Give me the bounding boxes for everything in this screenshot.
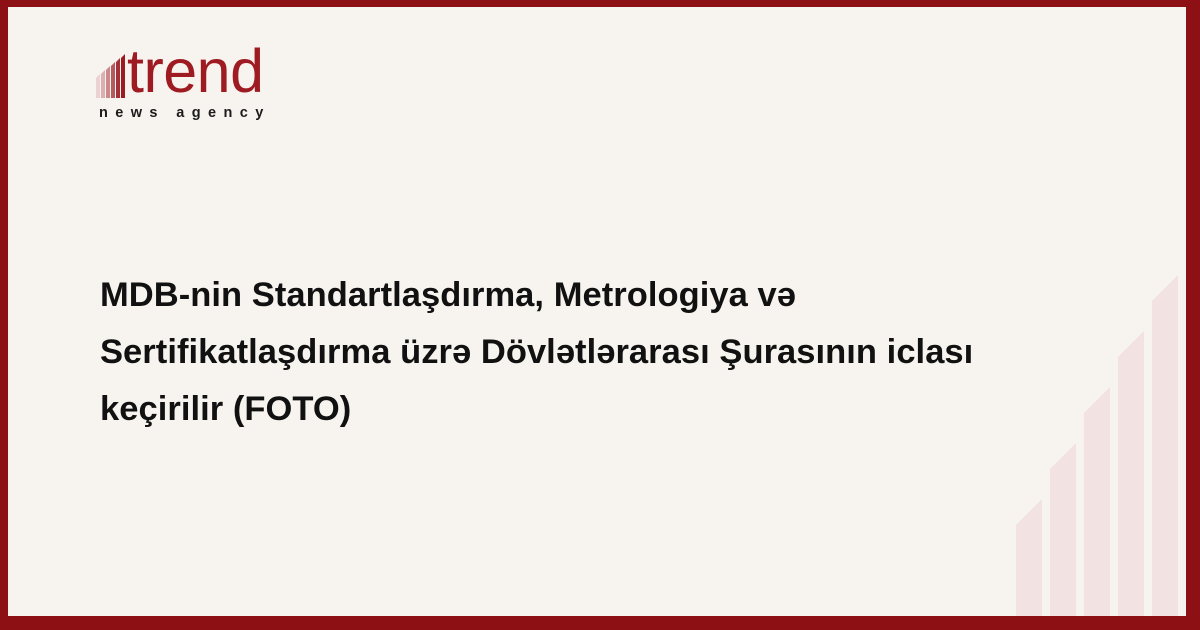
card-border-bottom (0, 616, 1200, 630)
trend-news-agency-logo[interactable]: trend news agency (96, 40, 271, 121)
headline-title: MDB-nin Standartlaşdırma, Metrologiya və… (100, 267, 1060, 438)
logo-wordmark: trend (127, 46, 264, 98)
logo-tagline: news agency (99, 105, 271, 121)
news-share-card: trend news agency MDB-nin Standartlaşdır… (0, 0, 1200, 630)
ascending-bars-icon (96, 48, 126, 98)
card-border-right (1186, 0, 1200, 630)
card-border-left (0, 0, 8, 630)
card-border-top (0, 0, 1200, 7)
logo-row: trend (96, 40, 271, 98)
